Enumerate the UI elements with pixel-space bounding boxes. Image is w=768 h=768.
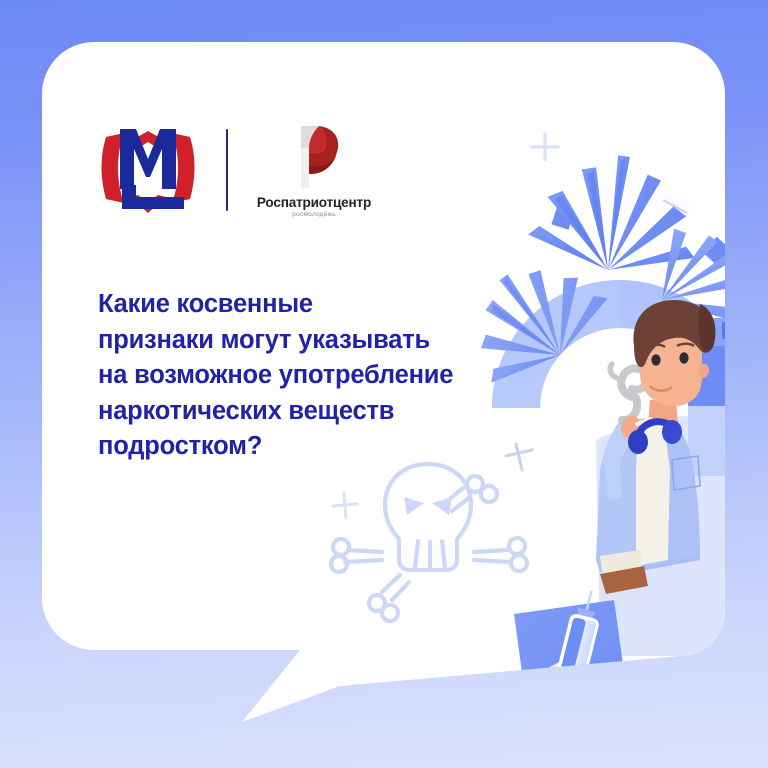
logo-row: Роспатриотцентр росмолодёжь <box>100 122 374 218</box>
headline-line-1: Какие косвенные <box>98 287 528 323</box>
headline-line-5: подростком? <box>98 429 528 465</box>
rospatriotcentr-name: Роспатриотцентр <box>257 195 371 210</box>
page-title: Какие косвенные признаки могут указывать… <box>98 287 528 465</box>
headline-line-3: на возможное употребление <box>98 358 528 394</box>
headline-line-4: наркотических веществ <box>98 394 528 430</box>
vertical-divider-icon <box>226 129 228 211</box>
headline-line-2: признаки могут указывать <box>98 323 528 359</box>
rospatriotcentr-subtitle: росмолодёжь <box>292 211 336 218</box>
mosmetod-m-emblem-icon <box>100 123 196 217</box>
rospatriotcentr-ribbon-icon <box>279 122 349 192</box>
rospatriotcentr-logo: Роспатриотцентр росмолодёжь <box>254 122 374 218</box>
